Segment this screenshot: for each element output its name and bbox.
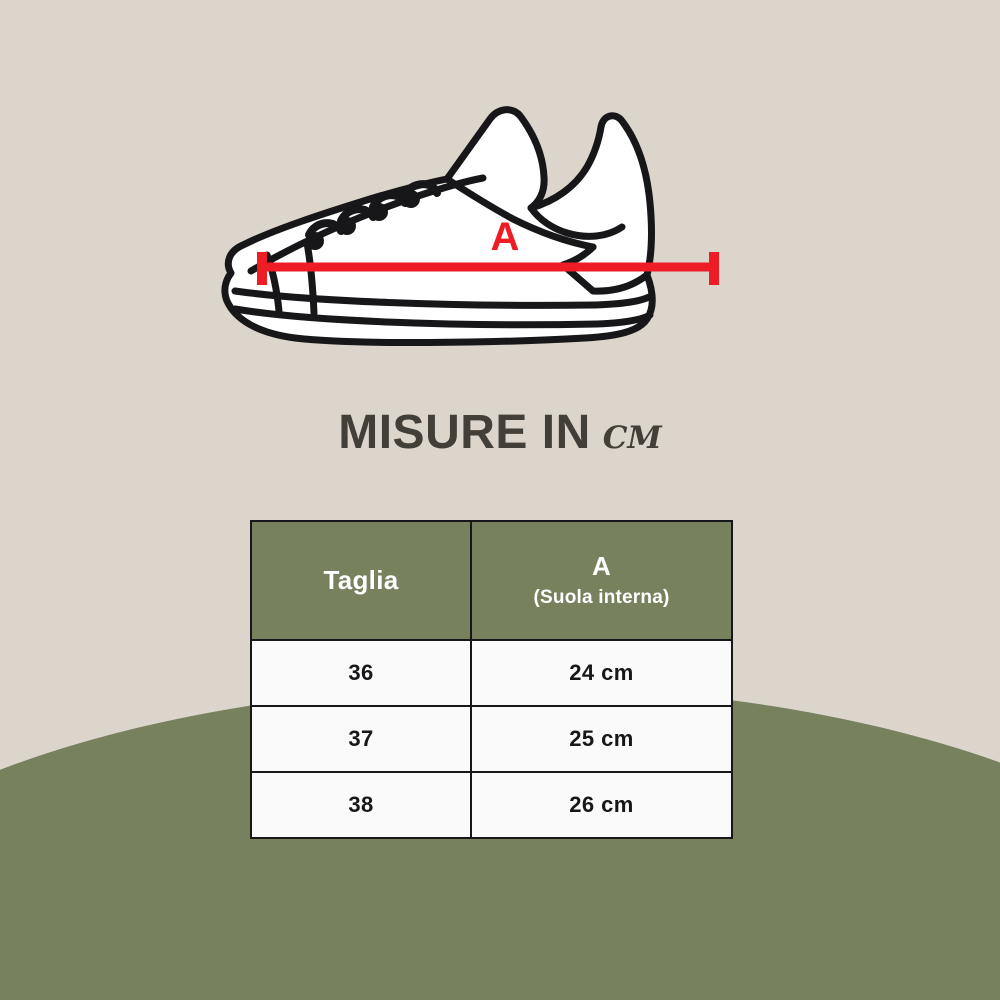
size-table: Taglia A (Suola interna) 36 24 cm 37 25 …: [250, 520, 733, 839]
size-table-head: Taglia A (Suola interna): [251, 521, 732, 640]
cell-size: 36: [251, 640, 471, 706]
page-title-main: MISURE IN: [338, 406, 591, 459]
sneaker-illustration: A: [195, 95, 805, 360]
header-cell-measure: A (Suola interna): [471, 521, 732, 640]
cell-measure: 26 cm: [471, 772, 732, 838]
header-label-measure-main: A: [472, 552, 731, 582]
header-label-measure-sub: (Suola interna): [472, 587, 731, 609]
sneaker-svg: A: [195, 95, 805, 360]
header-label-size: Taglia: [252, 566, 470, 596]
table-header-row: Taglia A (Suola interna): [251, 521, 732, 640]
table-row: 38 26 cm: [251, 772, 732, 838]
table-row: 37 25 cm: [251, 706, 732, 772]
measure-label-a: A: [491, 215, 520, 259]
page-title-unit: cm: [603, 408, 662, 459]
cell-size: 38: [251, 772, 471, 838]
cell-measure: 24 cm: [471, 640, 732, 706]
size-table-body: 36 24 cm 37 25 cm 38 26 cm: [251, 640, 732, 838]
table-row: 36 24 cm: [251, 640, 732, 706]
header-cell-size: Taglia: [251, 521, 471, 640]
size-chart-canvas: A MISURE INcm Taglia A (Suola interna) 3…: [0, 0, 1000, 1000]
cell-measure: 25 cm: [471, 706, 732, 772]
page-title: MISURE INcm: [0, 405, 1000, 460]
cell-size: 37: [251, 706, 471, 772]
